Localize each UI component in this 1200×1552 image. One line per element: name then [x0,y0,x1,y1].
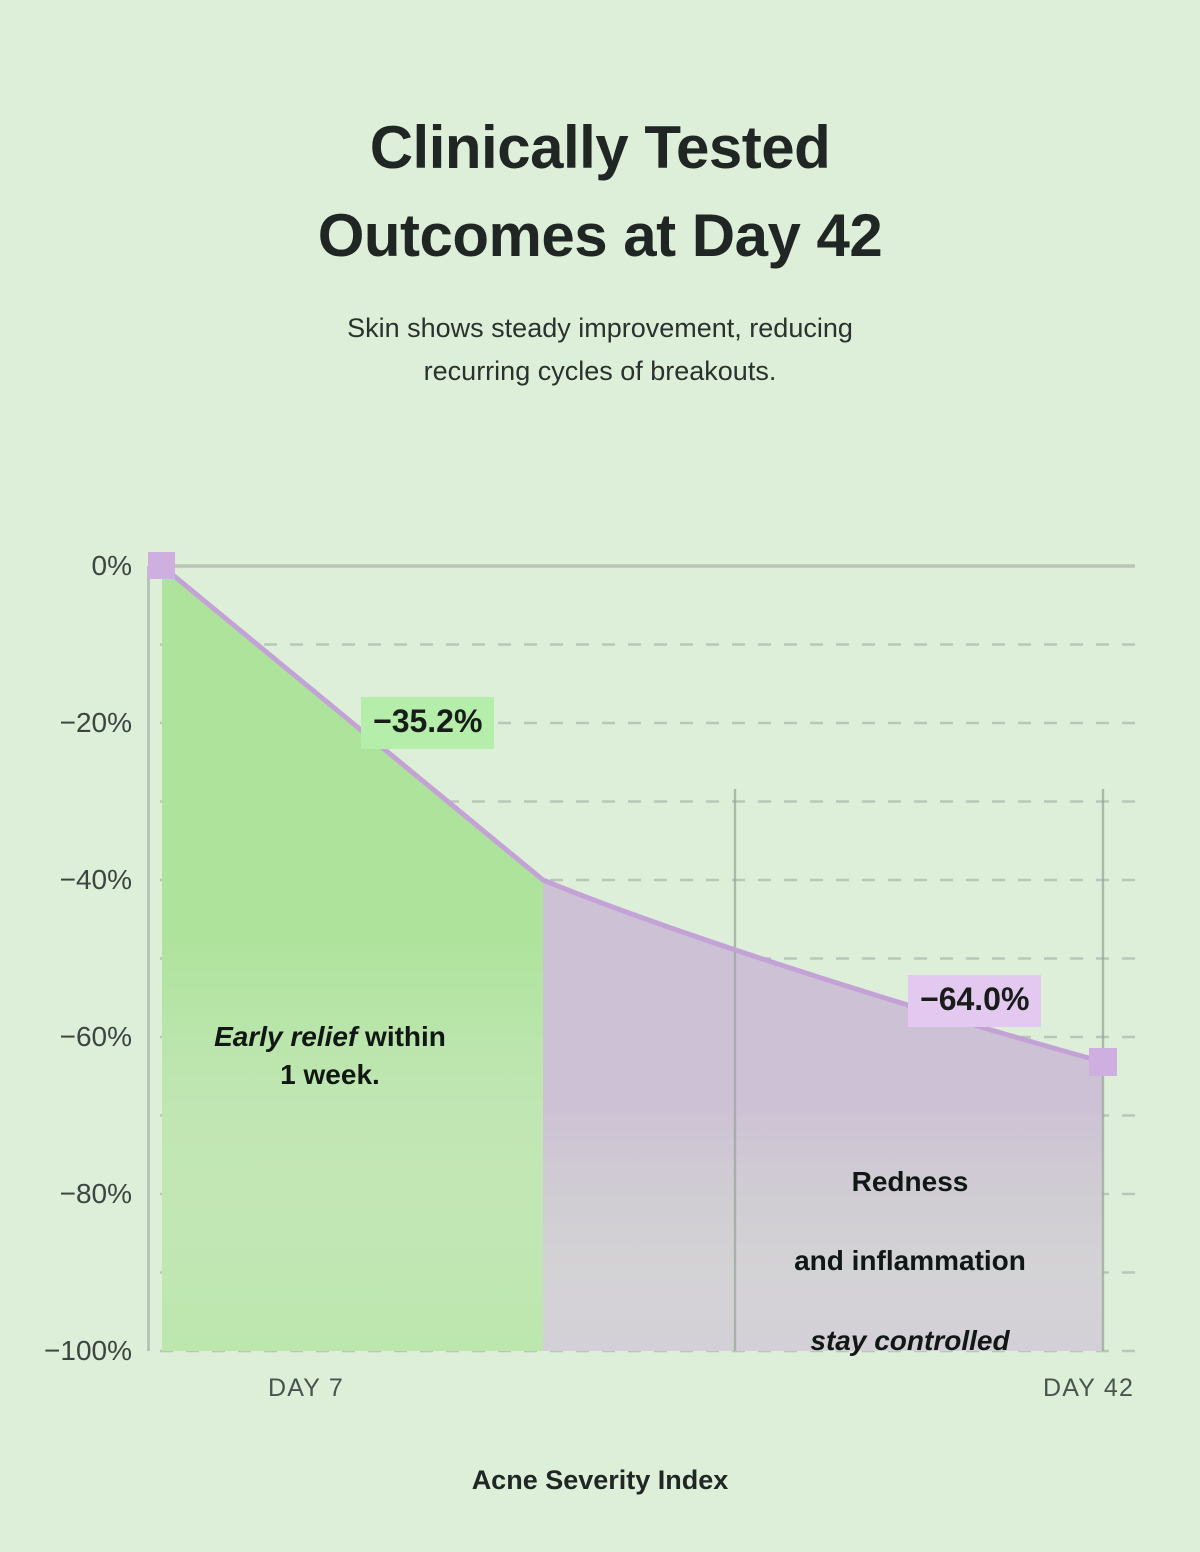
marker-end[interactable] [1089,1048,1117,1076]
y-tick-60: −60% [0,1021,132,1053]
annotation-redness-line-3: stay controlled [810,1325,1009,1356]
annotation-redness-line-2: and inflammation [760,1241,1060,1281]
value-badge-final: −64.0% [908,975,1041,1027]
marker-start[interactable] [148,552,175,579]
y-tick-0: 0% [0,550,132,582]
y-tick-20: −20% [0,707,132,739]
axis-caption: Acne Severity Index [0,1465,1200,1496]
y-tick-80: −80% [0,1178,132,1210]
chart-page: Clinically Tested Outcomes at Day 42 Ski… [0,0,1200,1552]
y-tick-100: −100% [0,1335,132,1367]
annotation-redness-line-1: Redness [760,1162,1060,1202]
x-tick-day7: DAY 7 [268,1374,344,1403]
y-tick-40: −40% [0,864,132,896]
value-badge-early: −35.2% [361,697,494,749]
annotation-early-relief-emphasis: Early relief [214,1021,357,1052]
annotation-redness: Redness and inflammation stay controlled [760,1122,1060,1400]
area-fill-green [162,566,543,1351]
annotation-early-relief: Early relief within 1 week. [170,980,490,1094]
